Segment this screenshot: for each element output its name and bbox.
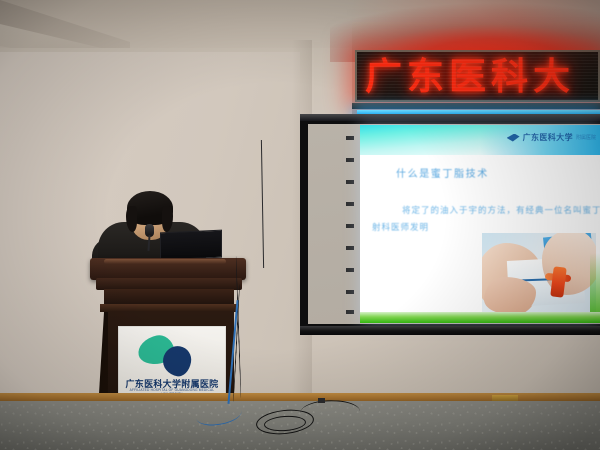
slide-logo-text: 广东医科大学: [523, 132, 573, 143]
screen-tensioner-tab: [346, 224, 354, 228]
screen-weight-bar: [300, 326, 600, 335]
slide-footer-band: [360, 312, 600, 323]
photo-hand-right: [542, 233, 596, 295]
projected-slide: 广东医科大学 附属医院 什么是蜜丁脂技术 将定了的油入于宇的方法，有经典一位名叫…: [360, 125, 600, 323]
floor-outlet: [318, 398, 325, 403]
screen-tensioner-tab: [346, 246, 354, 250]
slide-title: 什么是蜜丁脂技术: [396, 165, 489, 180]
screen-tensioner-tab: [346, 136, 354, 140]
slide-body-line-2: 射科医师发明: [372, 221, 429, 233]
screen-tensioner-tab: [346, 310, 354, 314]
projection-screen: 广东医科大学 附属医院 什么是蜜丁脂技术 将定了的油入于宇的方法，有经典一位名叫…: [300, 118, 600, 338]
screen-tensioner-tab: [346, 158, 354, 162]
led-sign-text: 广东医科大: [365, 55, 575, 99]
slide-hospital-logo: 广东医科大学 附属医院: [507, 132, 596, 143]
slide-logo-subtext: 附属医院: [576, 134, 596, 141]
screen-tensioner-tab: [346, 180, 354, 184]
presentation-photo-scene: 广东医科大 广东医科大学 附属医院 什么是蜜丁脂技术 将定了的油入于宇的方法，有…: [0, 0, 600, 450]
wall-cable-cover: [492, 395, 518, 401]
led-scrolling-sign: 广东医科大: [355, 50, 600, 102]
podium-top-highlight: [104, 259, 226, 264]
screen-top-bar: [300, 114, 600, 121]
screen-tensioner-tab: [346, 290, 354, 294]
slide-body-line-1: 将定了的油入于宇的方法，有经典一位名叫蜜丁脂的波: [402, 204, 600, 216]
led-sign-rail: [352, 103, 600, 109]
slide-photo-injection: [482, 233, 596, 315]
screen-tensioner-tab: [346, 202, 354, 206]
screen-tensioner-tab: [346, 268, 354, 272]
swoosh-icon: [507, 134, 520, 142]
laptop-screen: [160, 230, 222, 261]
speaker-hair-left: [126, 206, 137, 232]
